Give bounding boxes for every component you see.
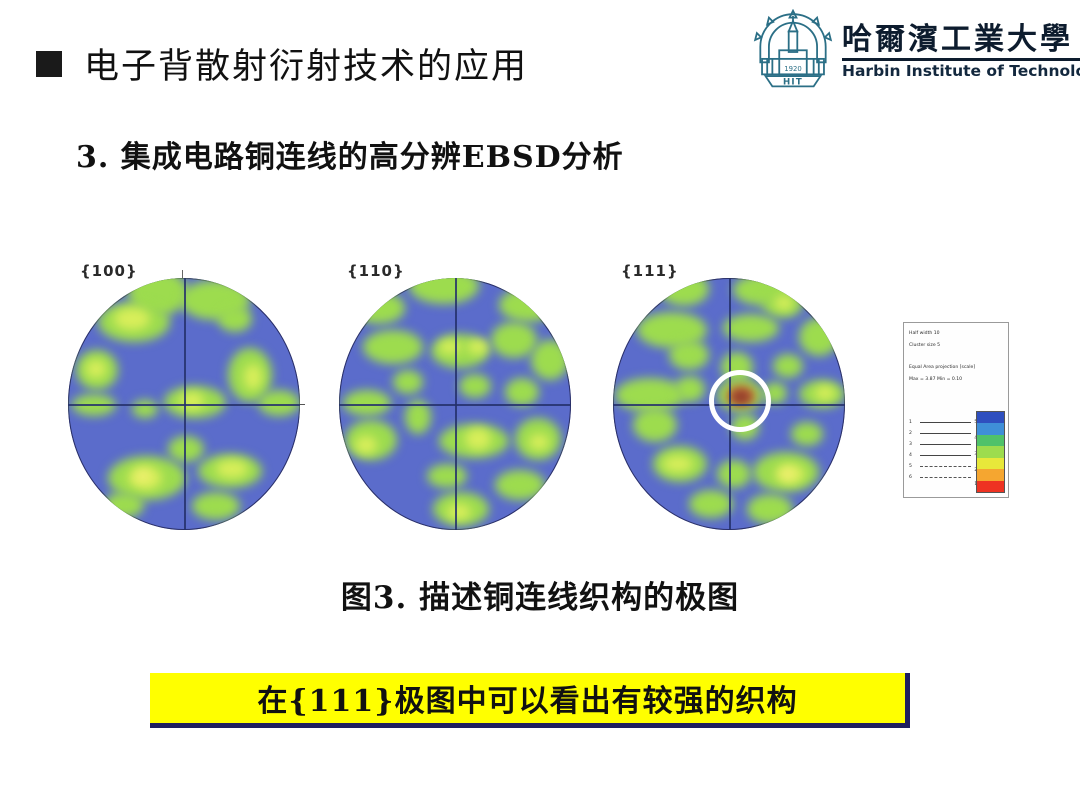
colorbar-band [977, 446, 1004, 457]
legend-level-number: 6 [909, 475, 915, 480]
legend-level-number: 5 [909, 464, 915, 469]
legend-line-cluster-size: Cluster size 5 [909, 343, 940, 348]
pole-figure-plot [68, 278, 300, 530]
pole-figure-group: {100} [58, 236, 1018, 536]
colorbar-band [977, 423, 1004, 434]
legend-line-projection: Equal Area projection [scale] [909, 365, 975, 370]
legend-level-line [920, 477, 971, 478]
legend-level-row: 3 [909, 439, 971, 450]
legend-level-line [920, 466, 971, 467]
colorbar-band [977, 435, 1004, 446]
legend-level-line [920, 444, 971, 445]
colorbar-band [977, 481, 1004, 492]
legend-colorbar [976, 411, 1005, 493]
legend-level-row: 1 [909, 417, 971, 428]
legend-level-row: 6 [909, 472, 971, 483]
legend-level-row: 2 [909, 428, 971, 439]
logo-english-name: Harbin Institute of Technology [842, 62, 1080, 80]
hit-emblem-icon: 1920 HIT [750, 9, 836, 95]
pole-figure-axis-vertical [455, 278, 457, 530]
colorbar-band [977, 458, 1004, 469]
logo-wordmark: 哈爾濱工業大學 Harbin Institute of Technology [842, 24, 1080, 80]
legend-level-row: 4 [909, 450, 971, 461]
colorbar-band [977, 412, 1004, 423]
university-logo: 1920 HIT 哈爾濱工業大學 Harbin Institute of Tec… [750, 8, 1068, 96]
colorbar-band [977, 469, 1004, 480]
legend-level-number: 2 [909, 431, 915, 436]
legend-level-number: 3 [909, 442, 915, 447]
pole-figure-axis-vertical [729, 278, 731, 530]
figure-caption: 图3. 描述铜连线织构的极图 [0, 572, 1080, 617]
legend-level-line [920, 433, 971, 434]
legend-level-line [920, 455, 971, 456]
section-heading: 3. 集成电路铜连线的高分辨EBSD分析 [76, 132, 624, 176]
pole-figure-label: {100} [80, 262, 138, 280]
pole-figure-100: {100} [68, 252, 300, 532]
legend-level-number: 4 [909, 453, 915, 458]
page-title: 电子背散射衍射技术的应用 [36, 38, 528, 89]
pole-figure-plot [339, 278, 571, 530]
pole-figure-111: {111} [613, 252, 845, 532]
legend-level-line [920, 422, 971, 423]
logo-chinese-name: 哈爾濱工業大學 [842, 24, 1080, 56]
legend-contour-levels: 1 2 3 4 5 6 [909, 417, 971, 483]
conclusion-text: 在{111}极图中可以看出有较强的织构 [257, 676, 797, 720]
pole-figure-legend: Half width 10 Cluster size 5 Equal Area … [903, 322, 1009, 498]
bullet-square-icon [36, 51, 62, 77]
conclusion-callout: 在{111}极图中可以看出有较强的织构 [150, 673, 910, 728]
pole-figure-label: {110} [347, 262, 405, 280]
page-title-text: 电子背散射衍射技术的应用 [84, 38, 528, 89]
emblem-initials-text: HIT [783, 78, 803, 88]
legend-line-max-min: Max = 3.87 Min = 0.10 [909, 377, 962, 382]
pole-figure-110: {110} [339, 252, 571, 532]
emblem-year-text: 1920 [784, 65, 802, 73]
pole-figure-axis-vertical [184, 278, 186, 530]
legend-level-number: 1 [909, 420, 915, 425]
legend-level-row: 5 [909, 461, 971, 472]
pole-figure-plot [613, 278, 845, 530]
logo-divider [842, 58, 1080, 61]
legend-line-half-width: Half width 10 [909, 331, 940, 336]
